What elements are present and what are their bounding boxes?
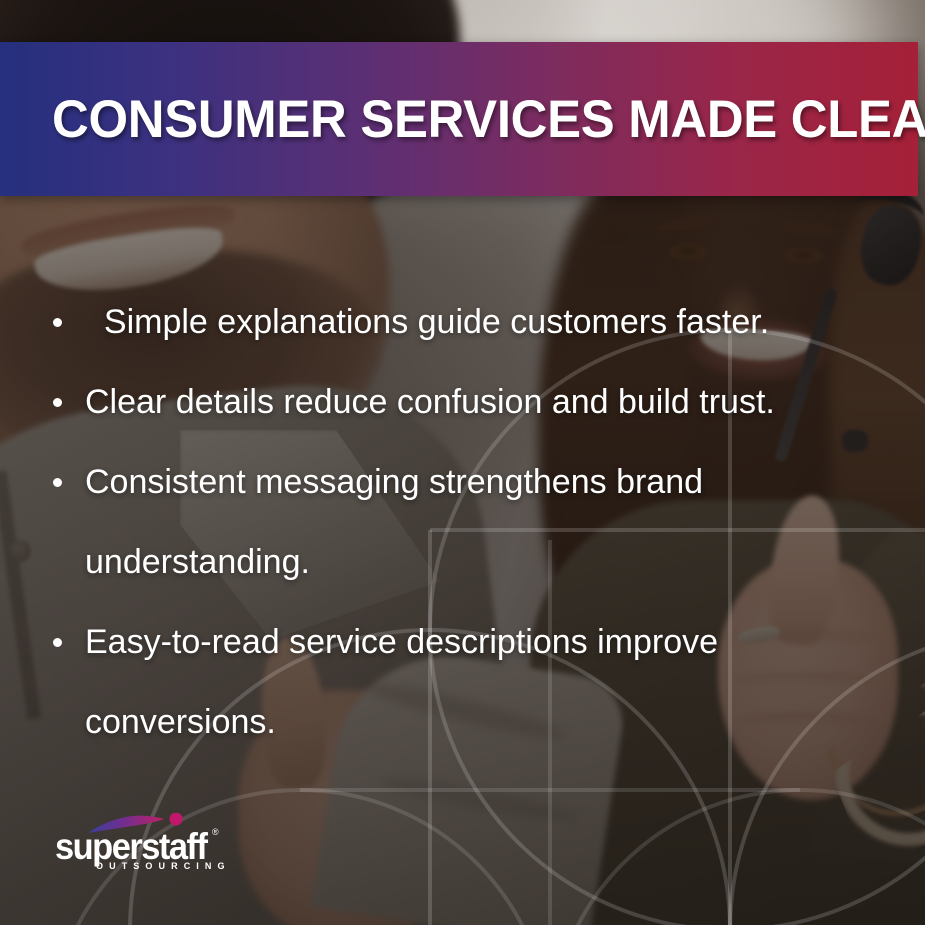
list-item: Clear details reduce confusion and build…: [48, 362, 860, 442]
list-item: Consistent messaging strengthens brand u…: [48, 442, 860, 602]
benefits-list: Simple explanations guide customers fast…: [48, 282, 860, 762]
logo-tagline: OUTSOURCING: [96, 862, 231, 871]
logo-wordmark: superstaff: [55, 828, 206, 865]
list-item: Simple explanations guide customers fast…: [48, 282, 860, 362]
list-item: Easy-to-read service descriptions improv…: [48, 602, 860, 762]
page-title: CONSUMER SERVICES MADE CLEAR: [52, 93, 925, 146]
promo-poster: CONSUMER SERVICES MADE CLEAR Simple expl…: [0, 0, 925, 925]
superstaff-logo[interactable]: superstaff ® OUTSOURCING: [55, 813, 230, 873]
registered-trademark-symbol: ®: [212, 827, 219, 837]
title-banner: CONSUMER SERVICES MADE CLEAR: [0, 42, 918, 196]
